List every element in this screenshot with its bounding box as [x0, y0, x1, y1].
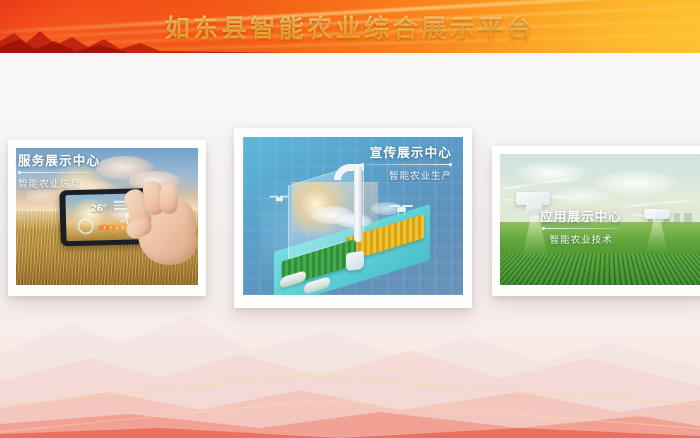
card-promotion-title: 宣传展示中心 [366, 146, 452, 160]
irrigation-pole [354, 166, 362, 242]
page-title: 如东县智能农业综合展示平台 [0, 0, 700, 53]
header-banner: 如东县智能农业综合展示平台 [0, 0, 700, 53]
rotor-blade [656, 200, 692, 205]
rotor-blade [624, 202, 658, 209]
drone-icon [390, 204, 412, 214]
spraying-drone-icon [624, 193, 696, 241]
caption-divider [542, 228, 620, 229]
hand-holding-phone [122, 175, 198, 267]
ar-gauge-icon [78, 218, 93, 233]
card-service-caption: 服务展示中心 智能农业信息 [18, 154, 100, 190]
caption-divider [366, 164, 452, 165]
isometric-farm-illustration [274, 200, 454, 292]
card-service-title: 服务展示中心 [18, 154, 100, 168]
rotor-blade [532, 177, 578, 184]
card-promotion-caption: 宣传展示中心 智能农业生产 [366, 146, 452, 182]
finger [159, 184, 178, 215]
ar-temperature-readout: 26° [90, 204, 106, 214]
card-application-subtitle: 智能农业技术 [540, 232, 622, 246]
card-promotion-subtitle: 智能农业生产 [366, 168, 452, 182]
card-application-caption: 应用展示中心 智能农业技术 [540, 210, 622, 246]
drone-body [644, 209, 670, 219]
water-tank [346, 251, 364, 272]
drone-icon [270, 195, 288, 203]
caption-divider [18, 172, 90, 173]
card-service-subtitle: 智能农业信息 [18, 176, 100, 190]
rotor-blade [500, 182, 536, 191]
platform-showcase-page: 如东县智能农业综合展示平台 26° [0, 0, 700, 438]
card-application-title: 应用展示中心 [540, 210, 622, 224]
spray-cone [646, 219, 668, 253]
